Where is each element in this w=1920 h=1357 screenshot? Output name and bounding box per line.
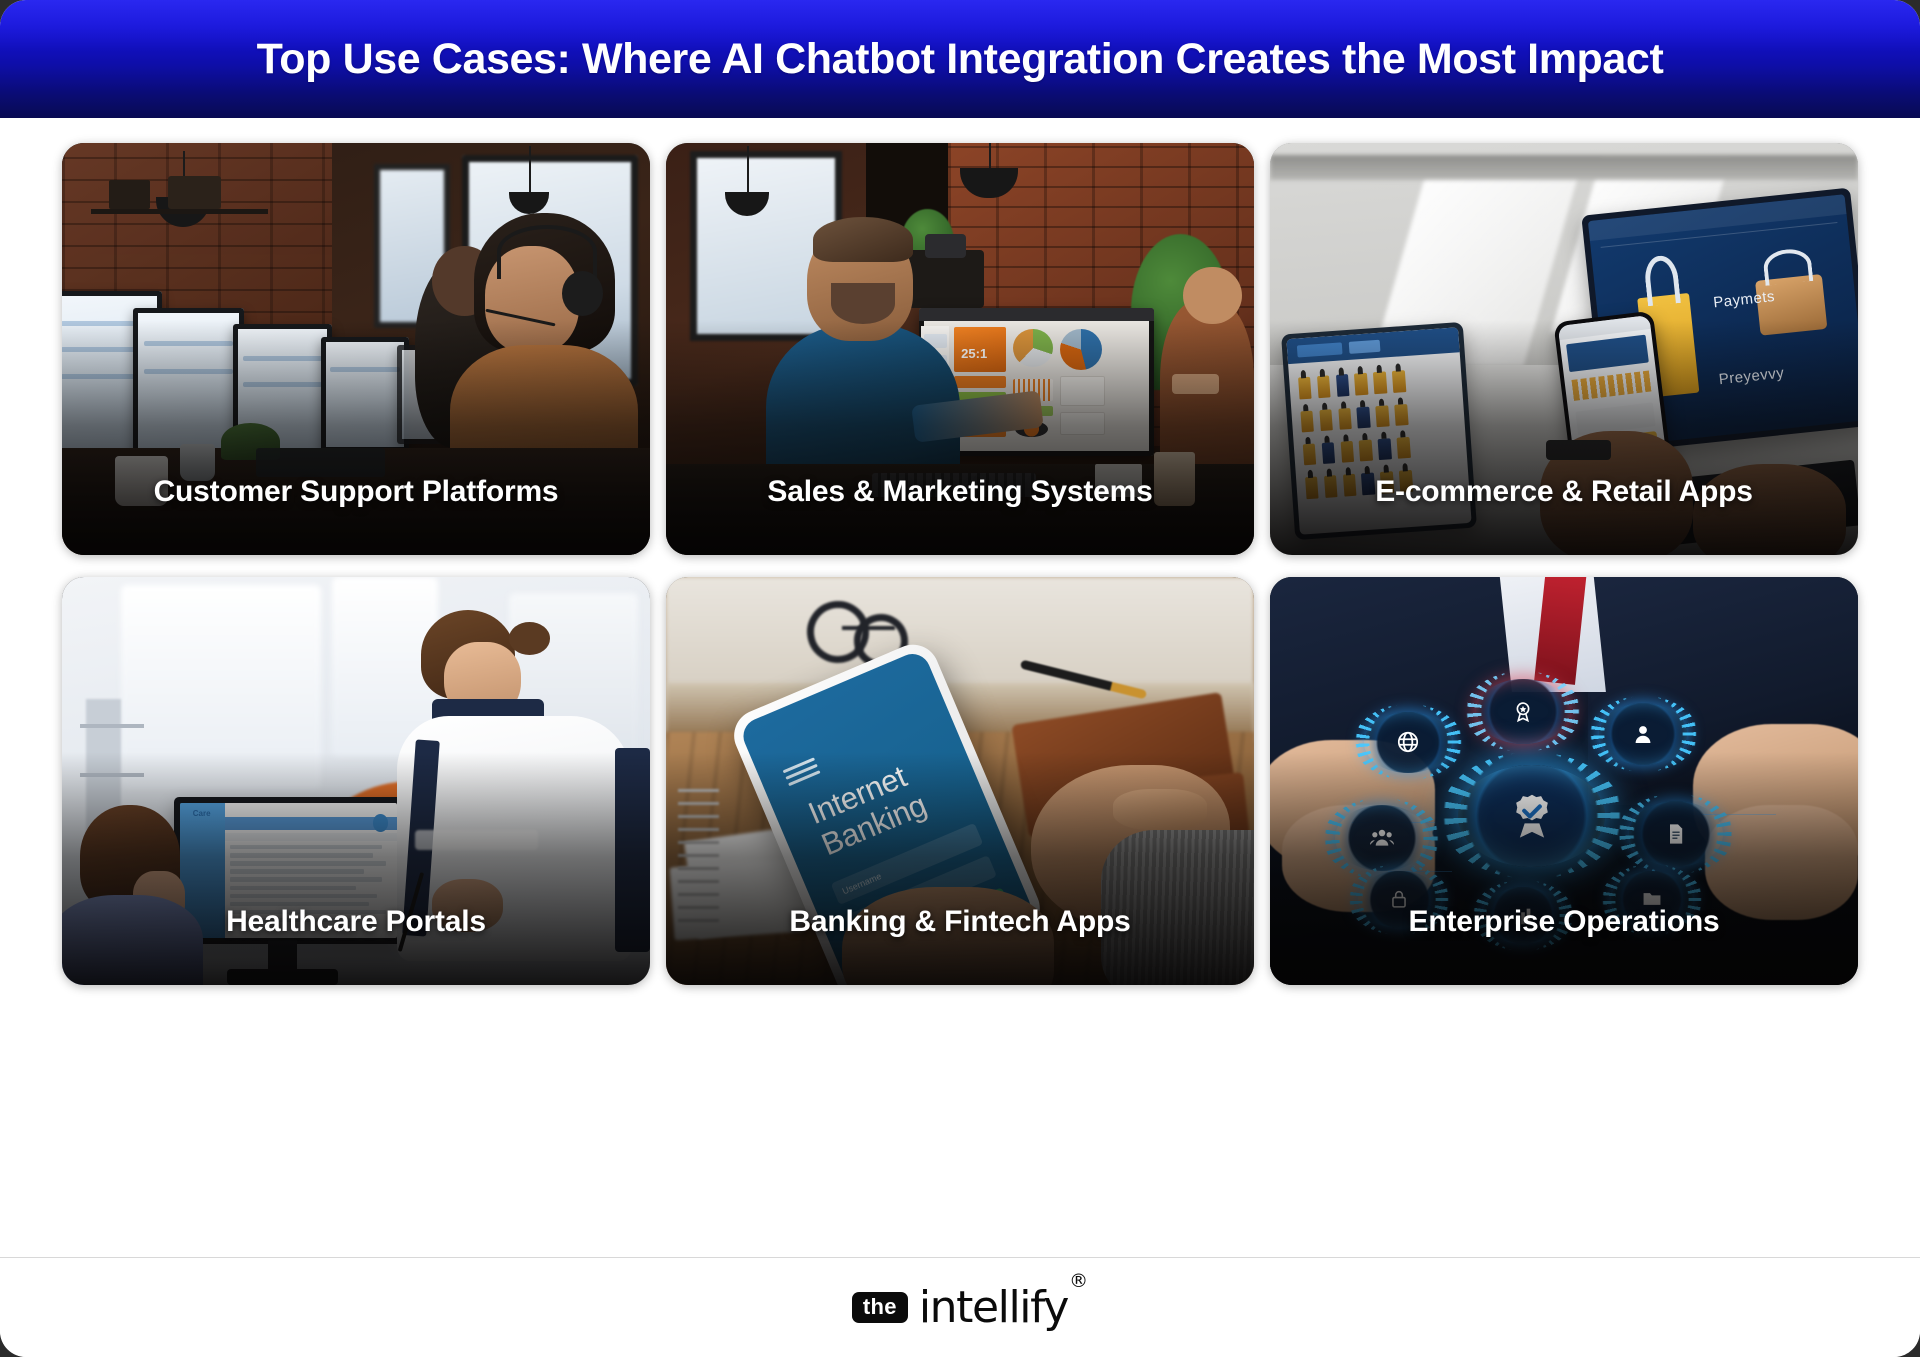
card-gradient-overlay <box>666 320 1254 555</box>
use-case-card-ecommerce[interactable]: Paymets Preyevvy <box>1270 143 1858 555</box>
cards-section: Customer Support Platforms <box>0 118 1920 1257</box>
use-case-card-banking[interactable]: Internet Banking Username Password <box>666 577 1254 985</box>
card-label-ecommerce: E-commerce & Retail Apps <box>1270 475 1858 509</box>
intellify-logo[interactable]: the intellify ® <box>852 1286 1068 1330</box>
registered-trademark-icon: ® <box>1069 1272 1088 1291</box>
logo-the-badge: the <box>852 1292 908 1323</box>
card-gradient-overlay <box>62 320 650 555</box>
infographic-page: Top Use Cases: Where AI Chatbot Integrat… <box>0 0 1920 1357</box>
card-label-customer-support: Customer Support Platforms <box>62 475 650 509</box>
footer: the intellify ® <box>0 1257 1920 1357</box>
card-gradient-overlay <box>1270 752 1858 985</box>
use-case-card-customer-support[interactable]: Customer Support Platforms <box>62 143 650 555</box>
card-label-healthcare: Healthcare Portals <box>62 905 650 939</box>
logo-wordmark-text: intellify <box>919 1282 1068 1333</box>
use-case-card-enterprise[interactable]: Enterprise Operations <box>1270 577 1858 985</box>
header-banner: Top Use Cases: Where AI Chatbot Integrat… <box>0 0 1920 118</box>
card-label-enterprise: Enterprise Operations <box>1270 905 1858 939</box>
page-title: Top Use Cases: Where AI Chatbot Integrat… <box>257 35 1664 84</box>
card-label-sales-marketing: Sales & Marketing Systems <box>666 475 1254 509</box>
logo-wordmark: intellify ® <box>919 1286 1068 1330</box>
use-case-card-healthcare[interactable]: Care <box>62 577 650 985</box>
card-gradient-overlay <box>1270 320 1858 555</box>
card-gradient-overlay <box>666 752 1254 985</box>
use-case-grid: Customer Support Platforms <box>62 143 1858 985</box>
use-case-card-sales-marketing[interactable]: 25:1 <box>666 143 1254 555</box>
award-icon <box>1476 679 1570 744</box>
card-gradient-overlay <box>62 752 650 985</box>
card-label-banking: Banking & Fintech Apps <box>666 905 1254 939</box>
